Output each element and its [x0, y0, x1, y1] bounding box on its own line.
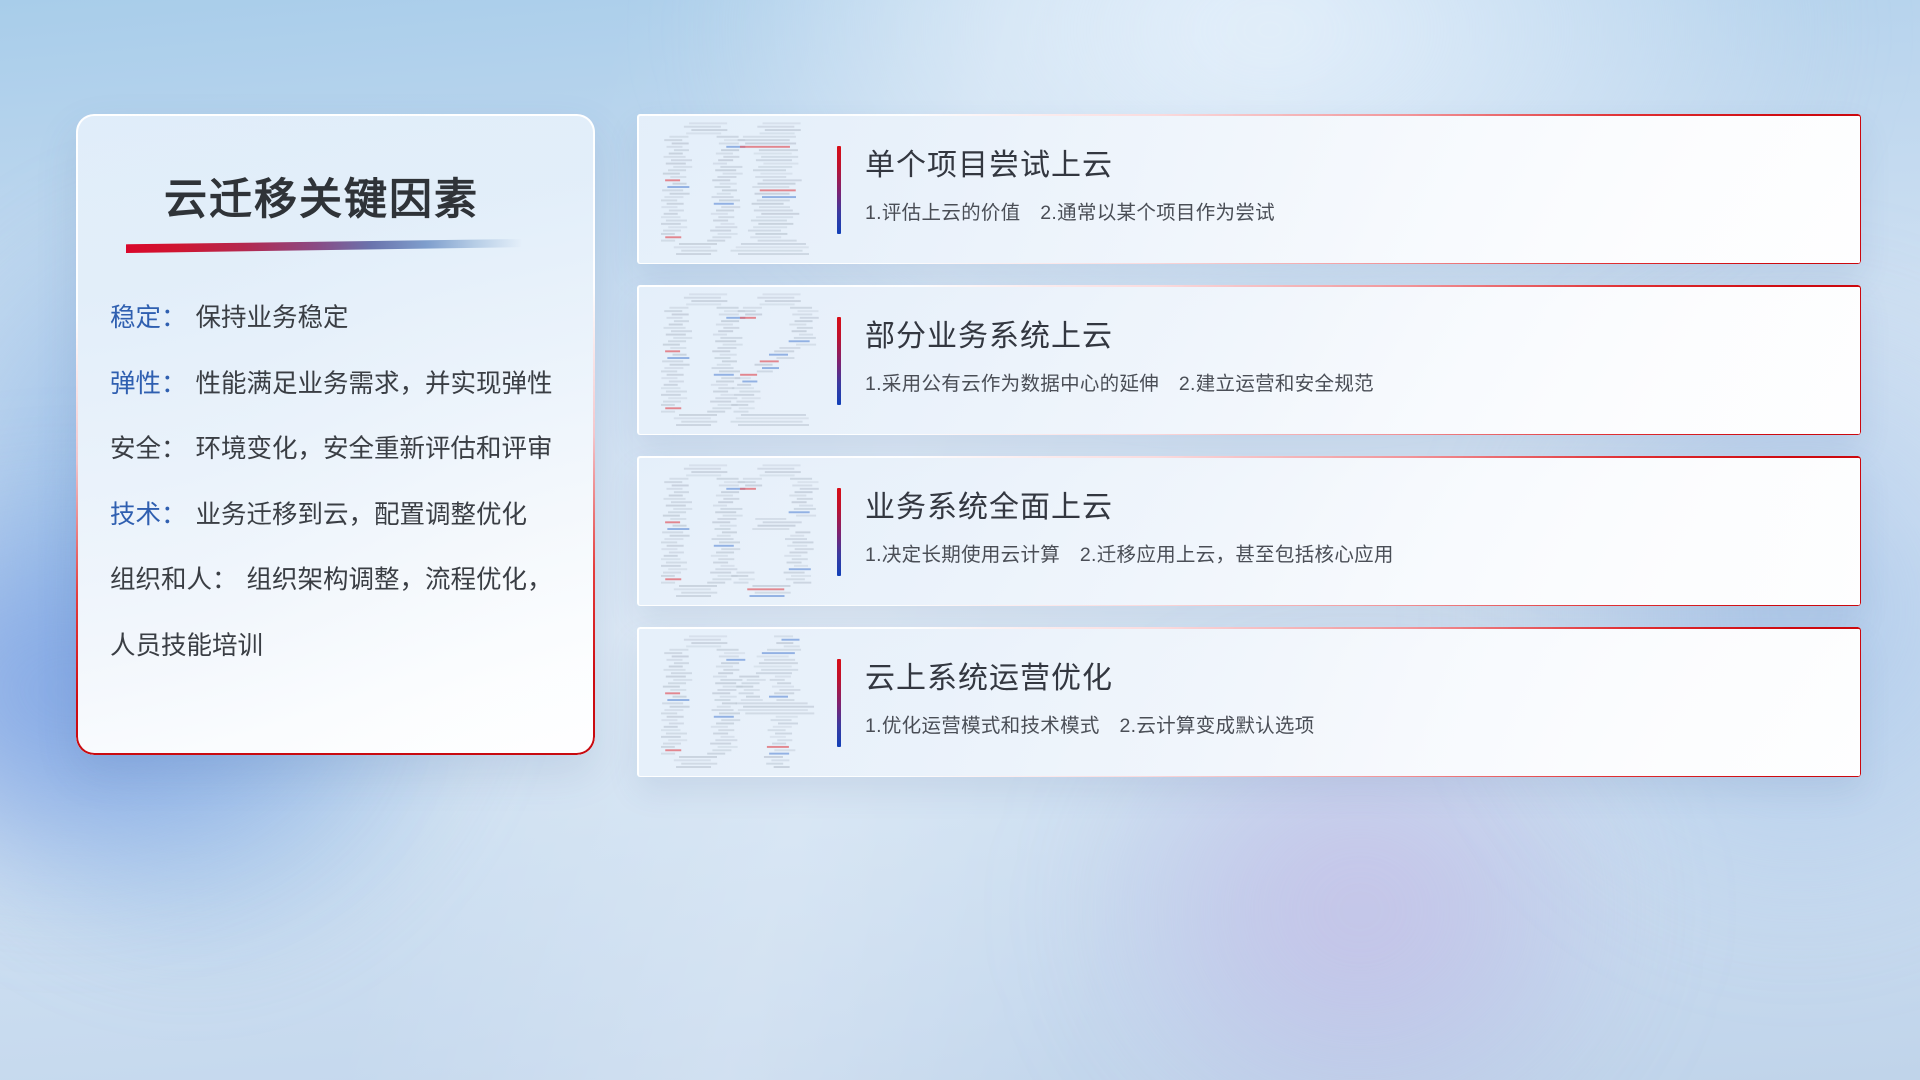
stage-number-glyph: [661, 122, 851, 256]
stage-number-glyph: [661, 635, 851, 769]
stage-card[interactable]: 部分业务系统上云 1.采用公有云作为数据中心的延伸 2.建立运营和安全规范: [637, 285, 1861, 435]
stage-number-glyph: [661, 464, 851, 598]
stage-title: 云上系统运营优化: [865, 653, 1113, 697]
factor-separator: ：: [212, 568, 238, 594]
factor-key: 稳定: [110, 306, 161, 332]
factor-key: 技术: [110, 503, 161, 529]
accent-bar: [837, 146, 841, 234]
factor-separator: ：: [161, 372, 187, 398]
title-underline-accent: [126, 239, 522, 253]
stage-title: 单个项目尝试上云: [865, 140, 1113, 184]
stage-subtitle: 1.采用公有云作为数据中心的延伸 2.建立运营和安全规范: [865, 367, 1374, 396]
stage-title: 部分业务系统上云: [865, 311, 1113, 355]
factor-list: 稳定：保持业务稳定弹性：性能满足业务需求，并实现弹性安全：环境变化，安全重新评估…: [106, 306, 575, 659]
factor-value: 性能满足业务需求，并实现弹性: [196, 372, 553, 398]
accent-bar: [837, 488, 841, 576]
stage-card[interactable]: 单个项目尝试上云 1.评估上云的价值 2.通常以某个项目作为尝试: [637, 114, 1861, 264]
factor-key: 弹性: [110, 372, 161, 398]
factor-item: 技术：业务迁移到云，配置调整优化: [106, 503, 575, 529]
stage-subtitle: 1.优化运营模式和技术模式 2.云计算变成默认选项: [865, 709, 1315, 738]
factor-value: 组织架构调整，流程优化，: [247, 568, 553, 594]
factor-separator: ：: [161, 437, 187, 463]
stage-subtitle: 1.决定长期使用云计算 2.迁移应用上云，甚至包括核心应用: [865, 538, 1394, 567]
key-factors-panel: 云迁移关键因素 稳定：保持业务稳定弹性：性能满足业务需求，并实现弹性安全：环境变…: [76, 114, 595, 755]
stage-card[interactable]: 云上系统运营优化 1.优化运营模式和技术模式 2.云计算变成默认选项: [637, 627, 1861, 777]
factor-value-continuation: 人员技能培训: [110, 634, 263, 660]
accent-bar: [837, 317, 841, 405]
factor-item: 弹性：性能满足业务需求，并实现弹性: [106, 372, 575, 398]
factor-value: 环境变化，安全重新评估和评审: [196, 437, 553, 463]
stage-title: 业务系统全面上云: [865, 482, 1113, 526]
factor-key: 组织和人: [110, 568, 212, 594]
factor-item: 组织和人：组织架构调整，流程优化，: [106, 568, 575, 594]
factor-value: 保持业务稳定: [196, 306, 349, 332]
factor-item: 稳定：保持业务稳定: [106, 306, 575, 332]
stage-number-glyph: [661, 293, 851, 427]
factor-separator: ：: [161, 503, 187, 529]
factor-value: 业务迁移到云，配置调整优化: [196, 503, 528, 529]
factor-item: 安全：环境变化，安全重新评估和评审: [106, 437, 575, 463]
factor-key: 安全: [110, 437, 161, 463]
stage-subtitle: 1.评估上云的价值 2.通常以某个项目作为尝试: [865, 196, 1275, 225]
factor-separator: ：: [161, 306, 187, 332]
factor-item: 人员技能培训: [106, 634, 575, 660]
page-title: 云迁移关键因素: [164, 165, 479, 227]
accent-bar: [837, 659, 841, 747]
stage-card[interactable]: 业务系统全面上云 1.决定长期使用云计算 2.迁移应用上云，甚至包括核心应用: [637, 456, 1861, 606]
